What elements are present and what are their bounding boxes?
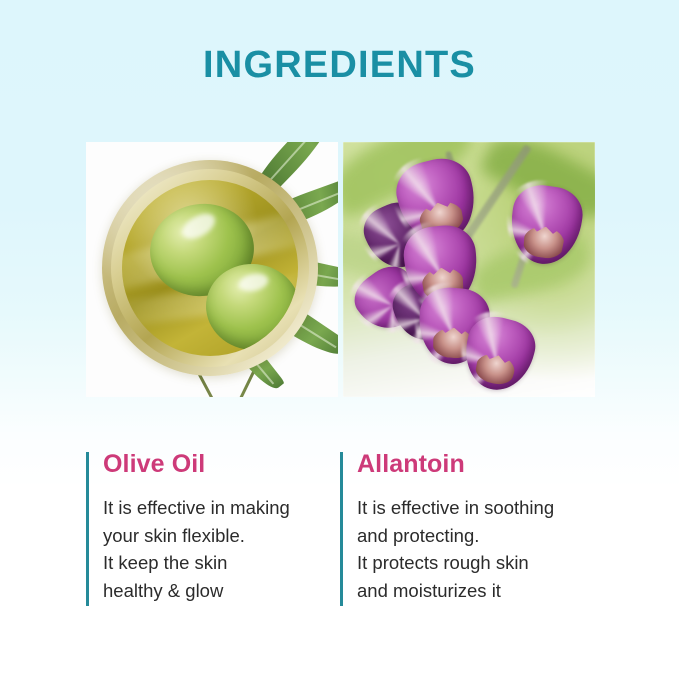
ingredient-name: Allantoin xyxy=(357,452,594,477)
ingredient-card-olive-oil: Olive Oil It is effective in making your… xyxy=(86,452,340,610)
accent-rule xyxy=(340,452,343,606)
olive-highlight xyxy=(237,271,270,294)
olive-oil-photo xyxy=(86,142,338,397)
accent-rule xyxy=(86,452,89,606)
glass-bowl xyxy=(102,160,318,376)
ingredient-description-row: Olive Oil It is effective in making your… xyxy=(86,452,594,610)
olive-highlight xyxy=(178,209,219,244)
page-title: INGREDIENTS xyxy=(0,44,679,87)
allantoin-photo xyxy=(343,142,595,397)
ingredient-card-allantoin: Allantoin It is effective in soothing an… xyxy=(340,452,594,610)
ingredient-photo-row xyxy=(86,142,594,397)
ingredient-name: Olive Oil xyxy=(103,452,340,477)
olive-oil-surface xyxy=(122,180,298,356)
ingredients-page: INGREDIENTS xyxy=(0,0,679,679)
ingredient-description: It is effective in making your skin flex… xyxy=(103,494,340,604)
ingredient-description: It is effective in soothing and protecti… xyxy=(357,494,594,604)
